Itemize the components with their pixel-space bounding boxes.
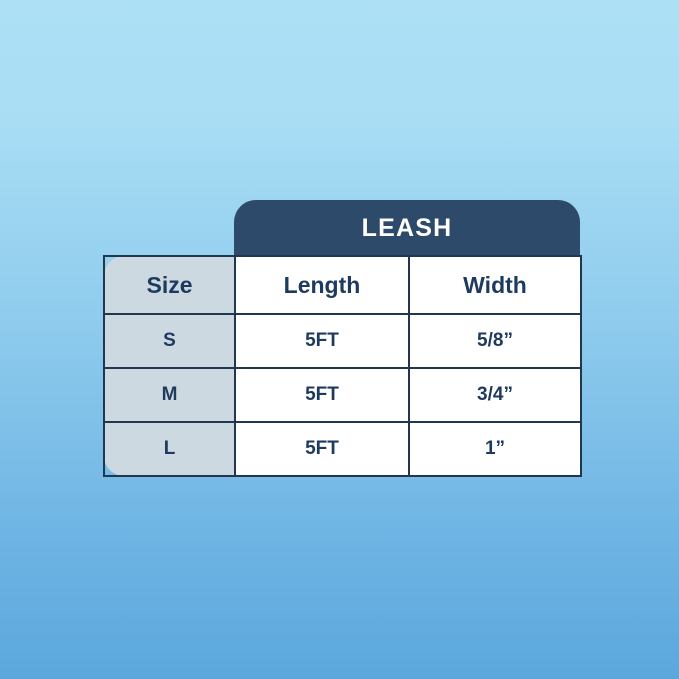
table-row: L 5FT 1” [104, 422, 581, 476]
cell-length: 5FT [235, 422, 409, 476]
banner-title-text: LEASH [362, 214, 453, 243]
cell-length: 5FT [235, 368, 409, 422]
cell-width: 5/8” [409, 314, 581, 368]
table-row: S 5FT 5/8” [104, 314, 581, 368]
cell-width: 1” [409, 422, 581, 476]
leash-title-banner: LEASH [234, 200, 580, 257]
size-chart-canvas: LEASH Size Length Width S 5FT 5/8” M 5FT [0, 0, 679, 679]
cell-length: 5FT [235, 314, 409, 368]
column-header-width: Width [409, 256, 581, 314]
cell-width: 3/4” [409, 368, 581, 422]
column-header-size: Size [104, 256, 235, 314]
cell-size: S [104, 314, 235, 368]
cell-size: L [104, 422, 235, 476]
table-header-row: Size Length Width [104, 256, 581, 314]
column-header-length: Length [235, 256, 409, 314]
cell-size: M [104, 368, 235, 422]
leash-size-table: Size Length Width S 5FT 5/8” M 5FT 3/4” … [103, 255, 582, 477]
table-row: M 5FT 3/4” [104, 368, 581, 422]
